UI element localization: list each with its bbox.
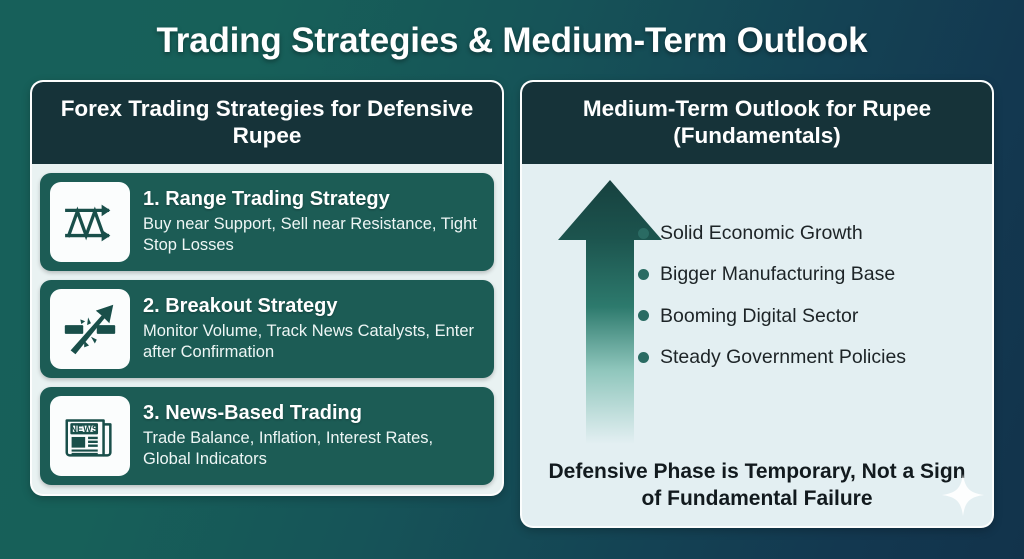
bullet-label: Steady Government Policies — [660, 346, 906, 368]
bullet-label: Booming Digital Sector — [660, 305, 858, 327]
left-panel-heading: Forex Trading Strategies for Defensive R… — [32, 82, 502, 164]
bullet-dot-icon — [638, 352, 649, 363]
medium-term-outlook-panel: Medium-Term Outlook for Rupee (Fundament… — [520, 80, 994, 528]
bullet-dot-icon — [638, 228, 649, 239]
strategy-card[interactable]: 2. Breakout Strategy Monitor Volume, Tra… — [40, 280, 494, 378]
strategy-card-text: 3. News-Based Trading Trade Balance, Inf… — [143, 402, 482, 469]
bullet-label: Solid Economic Growth — [660, 222, 863, 244]
strategy-card-desc: Monitor Volume, Track News Catalysts, En… — [143, 321, 482, 362]
strategy-card-title: 2. Breakout Strategy — [143, 295, 482, 319]
list-item: Steady Government Policies — [638, 346, 984, 368]
bullet-label: Bigger Manufacturing Base — [660, 263, 895, 285]
range-chart-icon — [50, 182, 130, 262]
page-title: Trading Strategies & Medium-Term Outlook — [0, 0, 1024, 61]
fundamentals-bullet-list: Solid Economic Growth Bigger Manufacturi… — [638, 222, 984, 369]
strategy-card[interactable]: NEWS 3. News-Based Trading Trade Balance… — [40, 387, 494, 485]
outlook-footnote: Defensive Phase is Temporary, Not a Sign… — [538, 459, 976, 512]
breakout-arrow-icon — [50, 289, 130, 369]
strategy-card-text: 2. Breakout Strategy Monitor Volume, Tra… — [143, 295, 482, 362]
newspaper-icon: NEWS — [50, 396, 130, 476]
right-panel-heading: Medium-Term Outlook for Rupee (Fundament… — [522, 82, 992, 164]
bullet-dot-icon — [638, 269, 649, 280]
outlook-body: Solid Economic Growth Bigger Manufacturi… — [522, 164, 992, 526]
strategy-card-desc: Buy near Support, Sell near Resistance, … — [143, 214, 482, 255]
strategy-card-title: 1. Range Trading Strategy — [143, 188, 482, 212]
strategy-card-list: 1. Range Trading Strategy Buy near Suppo… — [32, 164, 502, 494]
strategy-card-text: 1. Range Trading Strategy Buy near Suppo… — [143, 188, 482, 255]
panels-row: Forex Trading Strategies for Defensive R… — [0, 61, 1024, 528]
list-item: Solid Economic Growth — [638, 222, 984, 244]
strategy-card[interactable]: 1. Range Trading Strategy Buy near Suppo… — [40, 173, 494, 271]
strategy-card-desc: Trade Balance, Inflation, Interest Rates… — [143, 428, 482, 469]
bullet-dot-icon — [638, 310, 649, 321]
list-item: Bigger Manufacturing Base — [638, 263, 984, 285]
strategy-card-title: 3. News-Based Trading — [143, 402, 482, 426]
forex-strategies-panel: Forex Trading Strategies for Defensive R… — [30, 80, 504, 496]
list-item: Booming Digital Sector — [638, 305, 984, 327]
svg-text:NEWS: NEWS — [70, 424, 98, 434]
